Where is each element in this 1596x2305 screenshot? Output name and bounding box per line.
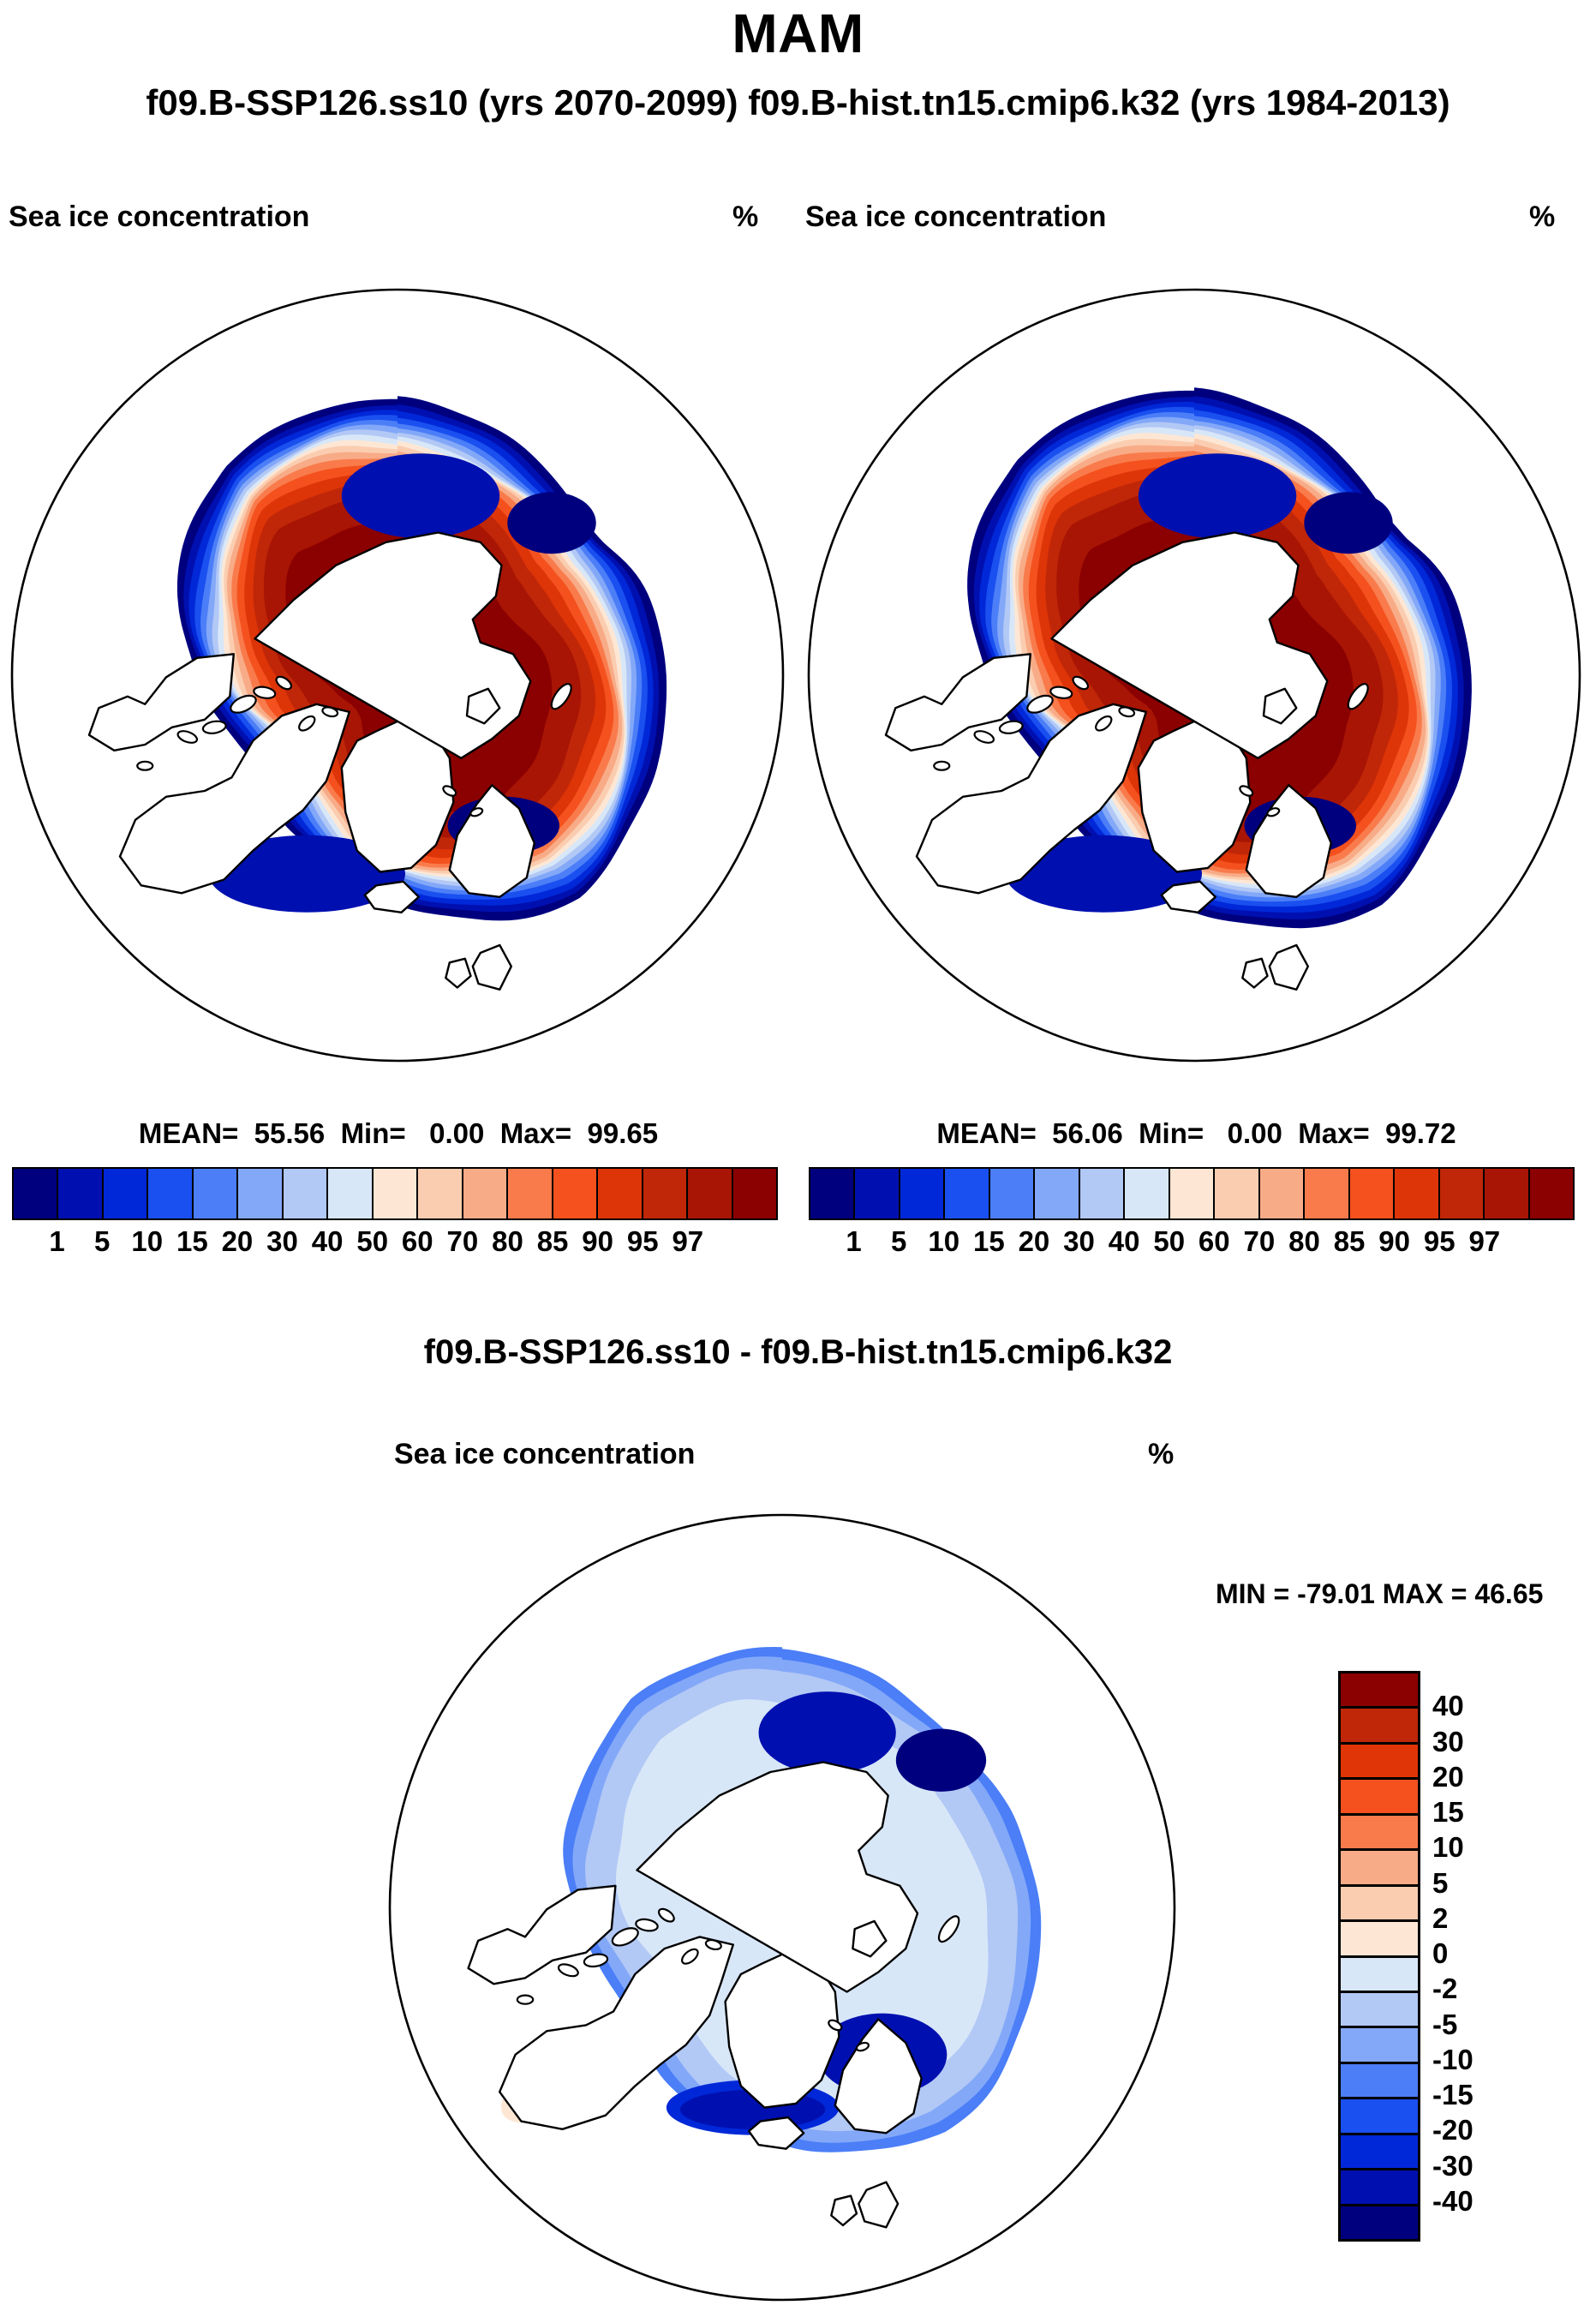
colorbar-tick-label: 30 xyxy=(1432,1726,1464,1758)
colorbar-cell xyxy=(1305,1169,1349,1218)
diff-units-label: % xyxy=(1148,1438,1174,1471)
colorbar-tick-label: -2 xyxy=(1432,1973,1457,2005)
right-variable-label: Sea ice concentration xyxy=(805,201,1106,234)
colorbar-cell xyxy=(14,1169,58,1218)
colorbar-cell xyxy=(1341,2206,1418,2239)
colorbar-cell xyxy=(733,1169,776,1218)
right-units-label: % xyxy=(1529,201,1555,234)
left-stats-text: MEAN= 55.56 Min= 0.00 Max= 99.65 xyxy=(0,1117,797,1150)
colorbar-cell xyxy=(598,1169,643,1218)
colorbar-cell xyxy=(643,1169,688,1218)
right-panel-header: Sea ice concentration % xyxy=(797,201,1596,235)
colorbar-cell xyxy=(1170,1169,1215,1218)
colorbar-cell xyxy=(194,1169,238,1218)
colorbar-tick-label: -10 xyxy=(1432,2044,1473,2076)
page-title: MAM xyxy=(0,2,1596,65)
coastline-island xyxy=(517,1996,533,2004)
colorbar-tick-label: 95 xyxy=(1424,1225,1456,1258)
colorbar-tick-label: 70 xyxy=(447,1225,479,1258)
colorbar-tick-label: 20 xyxy=(1432,1761,1464,1793)
low-concentration-tongue xyxy=(342,453,500,538)
colorbar-cell xyxy=(148,1169,193,1218)
colorbar-cell xyxy=(1341,2099,1418,2134)
right-stats-text: MEAN= 56.06 Min= 0.00 Max= 99.72 xyxy=(797,1117,1596,1150)
colorbar-tick-label: 5 xyxy=(94,1225,110,1258)
colorbar-cell xyxy=(1485,1169,1529,1218)
colorbar-cell xyxy=(1341,1958,1418,1993)
colorbar-cell xyxy=(104,1169,148,1218)
colorbar-cell xyxy=(1341,2064,1418,2099)
anomaly-loss-core xyxy=(896,1729,986,1792)
coastline-island xyxy=(137,762,152,770)
colorbar-cell xyxy=(900,1169,945,1218)
colorbar-cell xyxy=(1341,2028,1418,2063)
colorbar-tick-label: 85 xyxy=(537,1225,569,1258)
colorbar-cell xyxy=(1530,1169,1573,1218)
polar-map-svg xyxy=(7,272,788,1078)
colorbar-cell xyxy=(1080,1169,1125,1218)
coastline-island xyxy=(934,762,949,770)
colorbar-tick-label: 5 xyxy=(891,1225,906,1258)
colorbar-tick-label: 50 xyxy=(356,1225,388,1258)
colorbar-cell xyxy=(1341,1780,1418,1815)
colorbar-cell xyxy=(990,1169,1035,1218)
colorbar-cell xyxy=(238,1169,283,1218)
colorbar-cell xyxy=(1035,1169,1079,1218)
colorbar-tick-label: 5 xyxy=(1432,1867,1448,1900)
left-units-label: % xyxy=(732,201,758,234)
colorbar-cell xyxy=(58,1169,103,1218)
polar-map-svg xyxy=(384,1510,1181,2305)
colorbar-cell xyxy=(1341,2135,1418,2170)
diff-variable-label: Sea ice concentration xyxy=(394,1438,695,1471)
colorbar-tick-label: 85 xyxy=(1334,1225,1366,1258)
colorbar-left-labels: 1510152030405060708085909597 xyxy=(12,1225,774,1265)
colorbar-tick-label: 60 xyxy=(1198,1225,1230,1258)
colorbar-cell xyxy=(810,1169,855,1218)
left-variable-label: Sea ice concentration xyxy=(9,201,309,234)
polar-map-svg xyxy=(804,272,1585,1078)
colorbar-tick-label: 90 xyxy=(1378,1225,1410,1258)
colorbar-cell xyxy=(553,1169,598,1218)
colorbar-left[interactable] xyxy=(12,1167,778,1220)
colorbar-tick-label: 10 xyxy=(131,1225,163,1258)
colorbar-cell xyxy=(1440,1169,1485,1218)
colorbar-tick-label: 15 xyxy=(176,1225,208,1258)
colorbar-tick-label: 60 xyxy=(402,1225,433,1258)
colorbar-cell xyxy=(463,1169,508,1218)
colorbar-tick-label: 1 xyxy=(846,1225,861,1258)
colorbar-tick-label: 90 xyxy=(582,1225,613,1258)
map-difference-projection xyxy=(384,1510,1181,2305)
colorbar-tick-label: 15 xyxy=(973,1225,1005,1258)
colorbar-tick-label: 97 xyxy=(672,1225,703,1258)
colorbar-cell xyxy=(1350,1169,1395,1218)
colorbar-tick-label: -5 xyxy=(1432,2009,1457,2041)
colorbar-cell xyxy=(1341,1673,1418,1709)
colorbar-tick-label: 97 xyxy=(1468,1225,1500,1258)
colorbar-tick-label: -20 xyxy=(1432,2114,1473,2146)
map-ssp126-projection xyxy=(7,272,788,1078)
colorbar-tick-label: 80 xyxy=(492,1225,523,1258)
anomaly-loss-core xyxy=(759,1691,896,1774)
colorbar-tick-label: 15 xyxy=(1432,1796,1464,1829)
colorbar-right-labels: 1510152030405060708085909597 xyxy=(809,1225,1571,1265)
colorbar-tick-label: 80 xyxy=(1288,1225,1320,1258)
colorbar-cell xyxy=(418,1169,463,1218)
colorbar-cell xyxy=(374,1169,418,1218)
colorbar-tick-label: 30 xyxy=(1063,1225,1095,1258)
colorbar-cell xyxy=(1341,2170,1418,2206)
colorbar-difference[interactable] xyxy=(1338,1671,1420,2242)
colorbar-tick-label: 40 xyxy=(1432,1690,1464,1722)
left-panel-header: Sea ice concentration % xyxy=(0,201,797,235)
colorbar-tick-label: 1 xyxy=(49,1225,64,1258)
colorbar-cell xyxy=(1341,1816,1418,1851)
colorbar-cell xyxy=(284,1169,328,1218)
diff-minmax-text: MIN = -79.01 MAX = 46.65 xyxy=(1216,1578,1543,1610)
difference-title: f09.B-SSP126.ss10 - f09.B-hist.tn15.cmip… xyxy=(0,1333,1596,1372)
colorbar-tick-label: -40 xyxy=(1432,2185,1473,2218)
colorbar-right[interactable] xyxy=(809,1167,1575,1220)
colorbar-cell xyxy=(1341,1851,1418,1886)
colorbar-tick-label: 95 xyxy=(627,1225,659,1258)
colorbar-cell xyxy=(508,1169,553,1218)
colorbar-cell xyxy=(1341,1887,1418,1922)
colorbar-cell xyxy=(1215,1169,1259,1218)
colorbar-tick-label: 40 xyxy=(1109,1225,1140,1258)
colorbar-tick-label: -30 xyxy=(1432,2150,1473,2182)
colorbar-cell xyxy=(1341,1922,1418,1957)
colorbar-tick-label: 20 xyxy=(1019,1225,1050,1258)
colorbar-cell xyxy=(1341,1993,1418,2028)
colorbar-cell xyxy=(855,1169,900,1218)
colorbar-cell xyxy=(328,1169,373,1218)
low-concentration-tongue xyxy=(1304,492,1393,554)
colorbar-tick-label: 20 xyxy=(222,1225,254,1258)
colorbar-cell xyxy=(1395,1169,1439,1218)
colorbar-tick-label: -15 xyxy=(1432,2079,1473,2111)
low-concentration-tongue xyxy=(1139,453,1297,538)
colorbar-cell xyxy=(1125,1169,1169,1218)
colorbar-tick-label: 10 xyxy=(1432,1831,1464,1864)
colorbar-tick-label: 70 xyxy=(1244,1225,1276,1258)
colorbar-tick-label: 0 xyxy=(1432,1937,1448,1970)
diff-panel-header: Sea ice concentration % xyxy=(360,1438,1216,1472)
case-subtitle: f09.B-SSP126.ss10 (yrs 2070-2099) f09.B-… xyxy=(0,82,1596,123)
colorbar-cell xyxy=(688,1169,732,1218)
colorbar-tick-label: 50 xyxy=(1153,1225,1185,1258)
colorbar-tick-label: 40 xyxy=(312,1225,344,1258)
low-concentration-tongue xyxy=(507,492,596,554)
colorbar-tick-label: 30 xyxy=(266,1225,298,1258)
colorbar-cell xyxy=(1341,1745,1418,1780)
colorbar-cell xyxy=(1341,1709,1418,1744)
colorbar-cell xyxy=(1260,1169,1305,1218)
colorbar-cell xyxy=(945,1169,989,1218)
colorbar-tick-label: 2 xyxy=(1432,1902,1448,1935)
map-historical-projection xyxy=(804,272,1585,1078)
colorbar-tick-label: 10 xyxy=(928,1225,959,1258)
